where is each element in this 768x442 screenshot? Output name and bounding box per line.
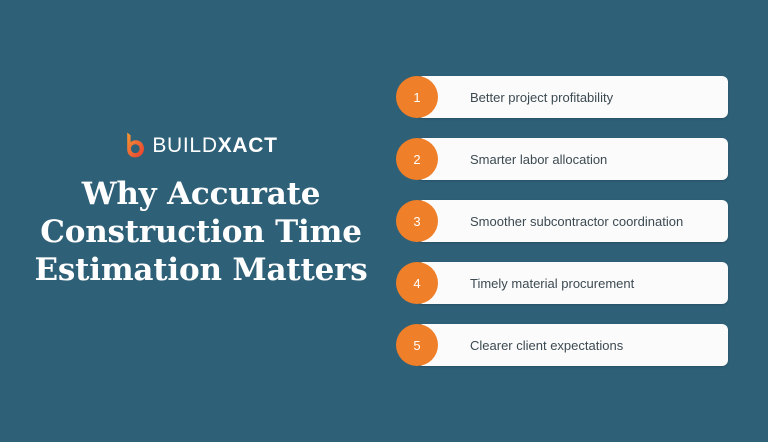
list-item: Better project profitability 1 [396, 76, 728, 118]
list-item-label: Better project profitability [470, 91, 613, 104]
list-item: Smoother subcontractor coordination 3 [396, 200, 728, 242]
infographic-canvas: BUILDXACT Why Accurate Construction Time… [0, 0, 768, 442]
list-item: Smarter labor allocation 2 [396, 138, 728, 180]
list-item-number: 3 [413, 215, 420, 228]
list-item-card: Smoother subcontractor coordination [417, 200, 728, 242]
list-item-card: Smarter labor allocation [417, 138, 728, 180]
logo-xact-text: XACT [218, 134, 278, 157]
headline-line-3: Estimation Matters [34, 252, 367, 290]
list-item-label: Smarter labor allocation [470, 153, 607, 166]
left-column: BUILDXACT Why Accurate Construction Time… [40, 130, 362, 289]
list-item-number-badge: 3 [396, 200, 438, 242]
list-item-number-badge: 5 [396, 324, 438, 366]
list-item-label: Timely material procurement [470, 277, 634, 290]
list-item-number: 1 [413, 91, 420, 104]
list-item-number: 2 [413, 153, 420, 166]
headline-line-2: Construction Time [34, 214, 367, 252]
list-item-number-badge: 4 [396, 262, 438, 304]
list-item-card: Better project profitability [417, 76, 728, 118]
list-item-label: Smoother subcontractor coordination [470, 215, 683, 228]
list-item-number: 5 [413, 339, 420, 352]
list-item: Clearer client expectations 5 [396, 324, 728, 366]
page-title: Why Accurate Construction Time Estimatio… [34, 176, 367, 289]
buildxact-logo: BUILDXACT [124, 130, 277, 160]
logo-wordmark: BUILDXACT [152, 135, 277, 156]
list-item-card: Timely material procurement [417, 262, 728, 304]
logo-build-text: BUILD [152, 134, 217, 157]
headline-line-1: Why Accurate [34, 176, 367, 214]
list-item-number-badge: 1 [396, 76, 438, 118]
benefits-list: Better project profitability 1 Smarter l… [396, 76, 728, 366]
list-item-label: Clearer client expectations [470, 339, 623, 352]
list-item-number: 4 [413, 277, 420, 290]
list-item-card: Clearer client expectations [417, 324, 728, 366]
list-item: Timely material procurement 4 [396, 262, 728, 304]
list-item-number-badge: 2 [396, 138, 438, 180]
buildxact-b-icon [124, 132, 152, 158]
